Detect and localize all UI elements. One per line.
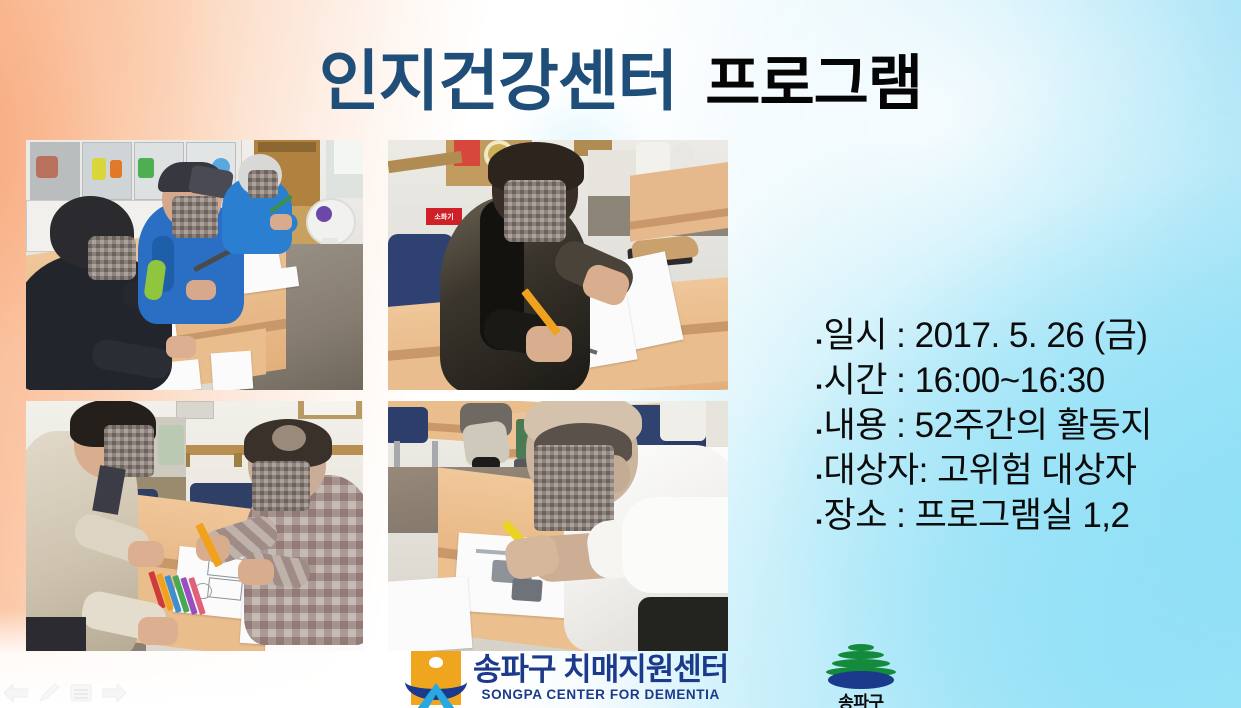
photo-group-worksheet-session <box>26 140 363 390</box>
logo-korean-text: 송파구 치매지원센터 <box>473 653 728 687</box>
photo-scene <box>26 140 363 390</box>
bullet-marker: ▪ <box>816 367 822 406</box>
slide-menu-button[interactable] <box>65 680 98 706</box>
photo-scene: 소화기 <box>388 140 728 390</box>
title-main-text: 인지건강센터 <box>319 44 677 118</box>
next-slide-button[interactable] <box>98 680 131 706</box>
program-details-list: ▪ 일시 : 2017. 5. 26 (금) ▪ 시간 : 16:00~16:3… <box>816 316 1226 541</box>
logo-wordmark: 송파구 치매지원센터 SONGPA CENTER FOR DEMENTIA <box>473 653 728 703</box>
photo-staff-assisting-participant <box>26 401 363 651</box>
right-arrow-icon <box>102 684 126 702</box>
photo-elderly-woman-writing: 소화기 <box>388 140 728 390</box>
menu-icon <box>70 684 92 702</box>
bullet-marker: ▪ <box>816 412 822 451</box>
logo-english-text: SONGPA CENTER FOR DEMENTIA <box>473 687 728 703</box>
pen-icon <box>38 683 60 703</box>
bullet-marker: ▪ <box>816 322 822 361</box>
list-item: ▪ 장소 : 프로그램실 1,2 <box>816 496 1226 541</box>
center-logo-icon <box>405 649 467 707</box>
list-item: ▪ 일시 : 2017. 5. 26 (금) <box>816 316 1226 361</box>
list-item: ▪ 내용 : 52주간의 활동지 <box>816 406 1226 451</box>
left-arrow-icon <box>4 684 28 702</box>
fire-extinguisher-sign: 소화기 <box>426 208 462 225</box>
detail-target: 대상자: 고위험 대상자 <box>824 451 1137 490</box>
presentation-slide: 인지건강센터프로그램 <box>0 0 1241 708</box>
emblem-label: 송파구 <box>822 688 900 708</box>
photo-elderly-man-writing <box>388 401 728 651</box>
detail-date: 일시 : 2017. 5. 26 (금) <box>824 316 1148 355</box>
presentation-toolbar[interactable] <box>0 678 130 708</box>
list-item: ▪ 대상자: 고위험 대상자 <box>816 451 1226 496</box>
title-sub-text: 프로그램 <box>705 50 922 117</box>
bullet-marker: ▪ <box>816 502 822 541</box>
list-item: ▪ 시간 : 16:00~16:30 <box>816 361 1226 406</box>
photo-scene <box>26 401 363 651</box>
slide-title: 인지건강센터프로그램 <box>0 48 1241 114</box>
pen-tool-button[interactable] <box>33 680 66 706</box>
detail-time: 시간 : 16:00~16:30 <box>824 361 1105 400</box>
detail-content: 내용 : 52주간의 활동지 <box>824 406 1152 445</box>
detail-place: 장소 : 프로그램실 1,2 <box>824 496 1130 535</box>
bullet-marker: ▪ <box>816 457 822 496</box>
photo-scene <box>388 401 728 651</box>
songpa-gu-emblem-icon: 송파구 <box>822 646 900 708</box>
previous-slide-button[interactable] <box>0 680 33 706</box>
